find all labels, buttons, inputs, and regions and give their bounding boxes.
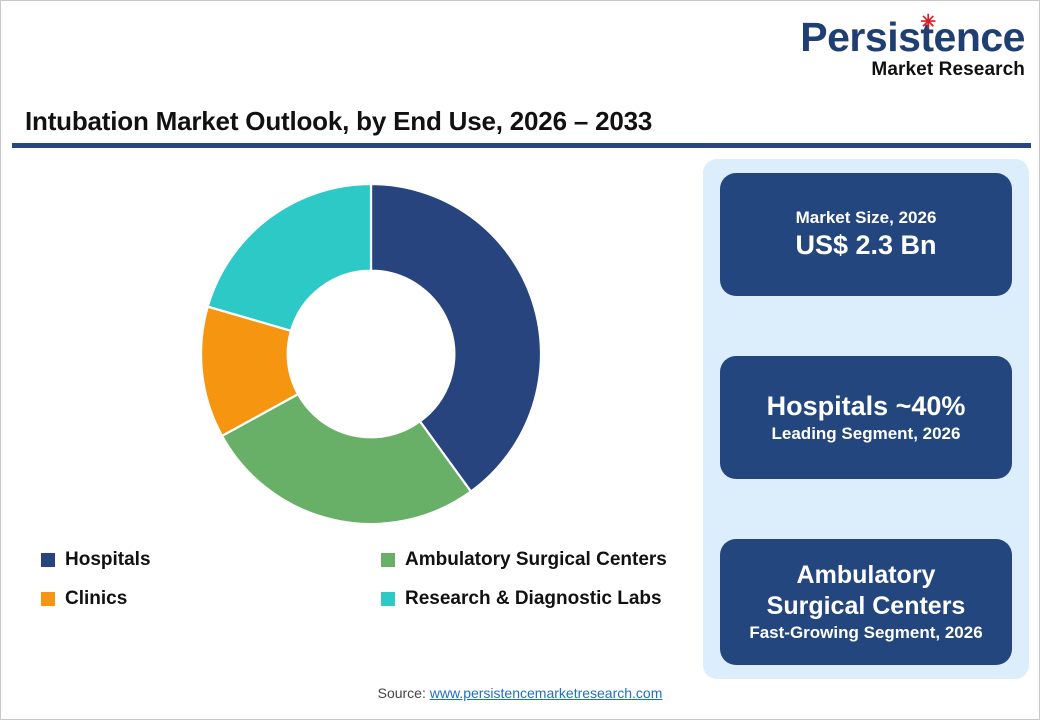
legend-swatch-icon (381, 592, 395, 606)
donut-slice-research-diagnostic-labs[interactable] (208, 184, 371, 331)
source-link[interactable]: www.persistencemarketresearch.com (430, 685, 663, 701)
kpi-card-leading-segment[interactable]: Hospitals ~40% Leading Segment, 2026 (720, 356, 1012, 479)
legend-item-hospitals[interactable]: Hospitals (41, 549, 381, 571)
legend-label: Hospitals (65, 549, 151, 571)
kpi-panel: Market Size, 2026 US$ 2.3 Bn Hospitals ~… (703, 159, 1029, 679)
donut-chart (181, 164, 561, 544)
chart-legend: Hospitals Ambulatory Surgical Centers Cl… (41, 549, 691, 610)
legend-swatch-icon (41, 553, 55, 567)
legend-item-clinics[interactable]: Clinics (41, 588, 381, 610)
logo-name: Persistence (800, 14, 1025, 60)
star-icon: ✳ (920, 13, 935, 32)
title-divider (12, 143, 1031, 148)
company-logo: Persistence ✳ Market Research (800, 17, 1025, 79)
logo-tagline: Market Research (800, 60, 1025, 79)
kpi-caption: Fast-Growing Segment, 2026 (749, 622, 982, 643)
legend-item-ambulatory-surgical-centers[interactable]: Ambulatory Surgical Centers (381, 549, 691, 571)
kpi-value: US$ 2.3 Bn (795, 229, 936, 262)
kpi-card-market-size[interactable]: Market Size, 2026 US$ 2.3 Bn (720, 173, 1012, 296)
page-title: Intubation Market Outlook, by End Use, 2… (25, 106, 652, 137)
source-line: Source: www.persistencemarketresearch.co… (1, 685, 1039, 701)
legend-label: Research & Diagnostic Labs (405, 588, 662, 610)
legend-label: Clinics (65, 588, 127, 610)
logo-wordmark: Persistence ✳ (800, 17, 1025, 58)
kpi-value: Hospitals ~40% (767, 390, 966, 423)
legend-swatch-icon (381, 553, 395, 567)
chart-area (1, 156, 691, 556)
kpi-card-fast-growing-segment[interactable]: Ambulatory Surgical Centers Fast-Growing… (720, 539, 1012, 665)
kpi-value-line-1: Ambulatory (797, 560, 936, 591)
legend-swatch-icon (41, 592, 55, 606)
legend-label: Ambulatory Surgical Centers (405, 549, 667, 571)
kpi-caption: Leading Segment, 2026 (772, 423, 961, 444)
source-label: Source: (378, 685, 430, 701)
kpi-value-line-2: Surgical Centers (767, 591, 966, 622)
donut-slice-group (201, 184, 541, 524)
legend-item-research-diagnostic-labs[interactable]: Research & Diagnostic Labs (381, 588, 691, 610)
infographic-canvas: Persistence ✳ Market Research Intubation… (0, 0, 1040, 720)
kpi-caption: Market Size, 2026 (796, 207, 937, 228)
